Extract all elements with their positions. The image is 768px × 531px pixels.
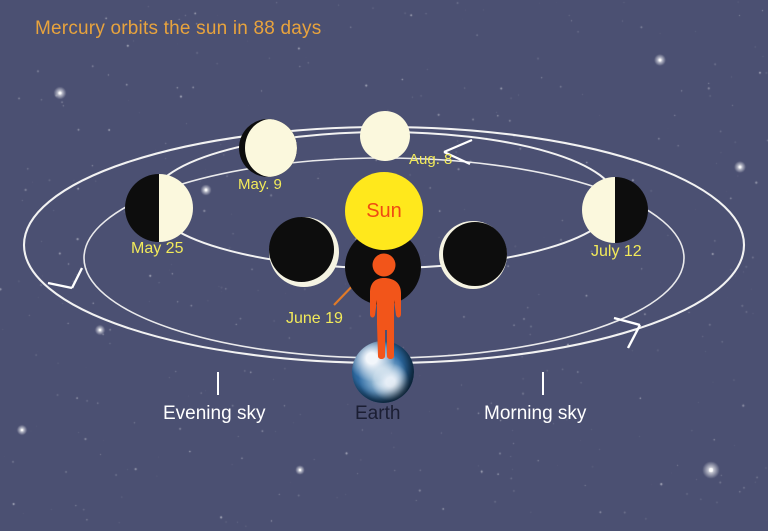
label-june-19: June 19 (286, 310, 343, 328)
mercury-disc-july-12 (582, 177, 648, 243)
human-figure-icon (362, 252, 406, 362)
mercury-disc-inner-right (439, 221, 507, 289)
label-may-9: May. 9 (238, 176, 282, 193)
diagram-canvas: Mercury orbits the sun in 88 days Sun Ma (0, 0, 768, 531)
label-evening-sky: Evening sky (163, 403, 265, 425)
label-aug-8: Aug. 8 (409, 151, 452, 168)
page-title: Mercury orbits the sun in 88 days (35, 18, 321, 40)
mercury-disc-may-25 (125, 174, 193, 242)
label-earth: Earth (355, 403, 400, 425)
label-july-12: July 12 (591, 243, 642, 261)
label-may-25: May 25 (131, 240, 183, 258)
sun-icon: Sun (345, 172, 423, 250)
mercury-disc-may-9 (239, 119, 297, 177)
mercury-disc-inner-left (269, 217, 339, 287)
orbit-direction-arrow-left (48, 268, 82, 288)
label-morning-sky: Morning sky (484, 403, 586, 425)
sun-label: Sun (366, 200, 402, 223)
mercury-disc-aug-8 (360, 111, 410, 161)
